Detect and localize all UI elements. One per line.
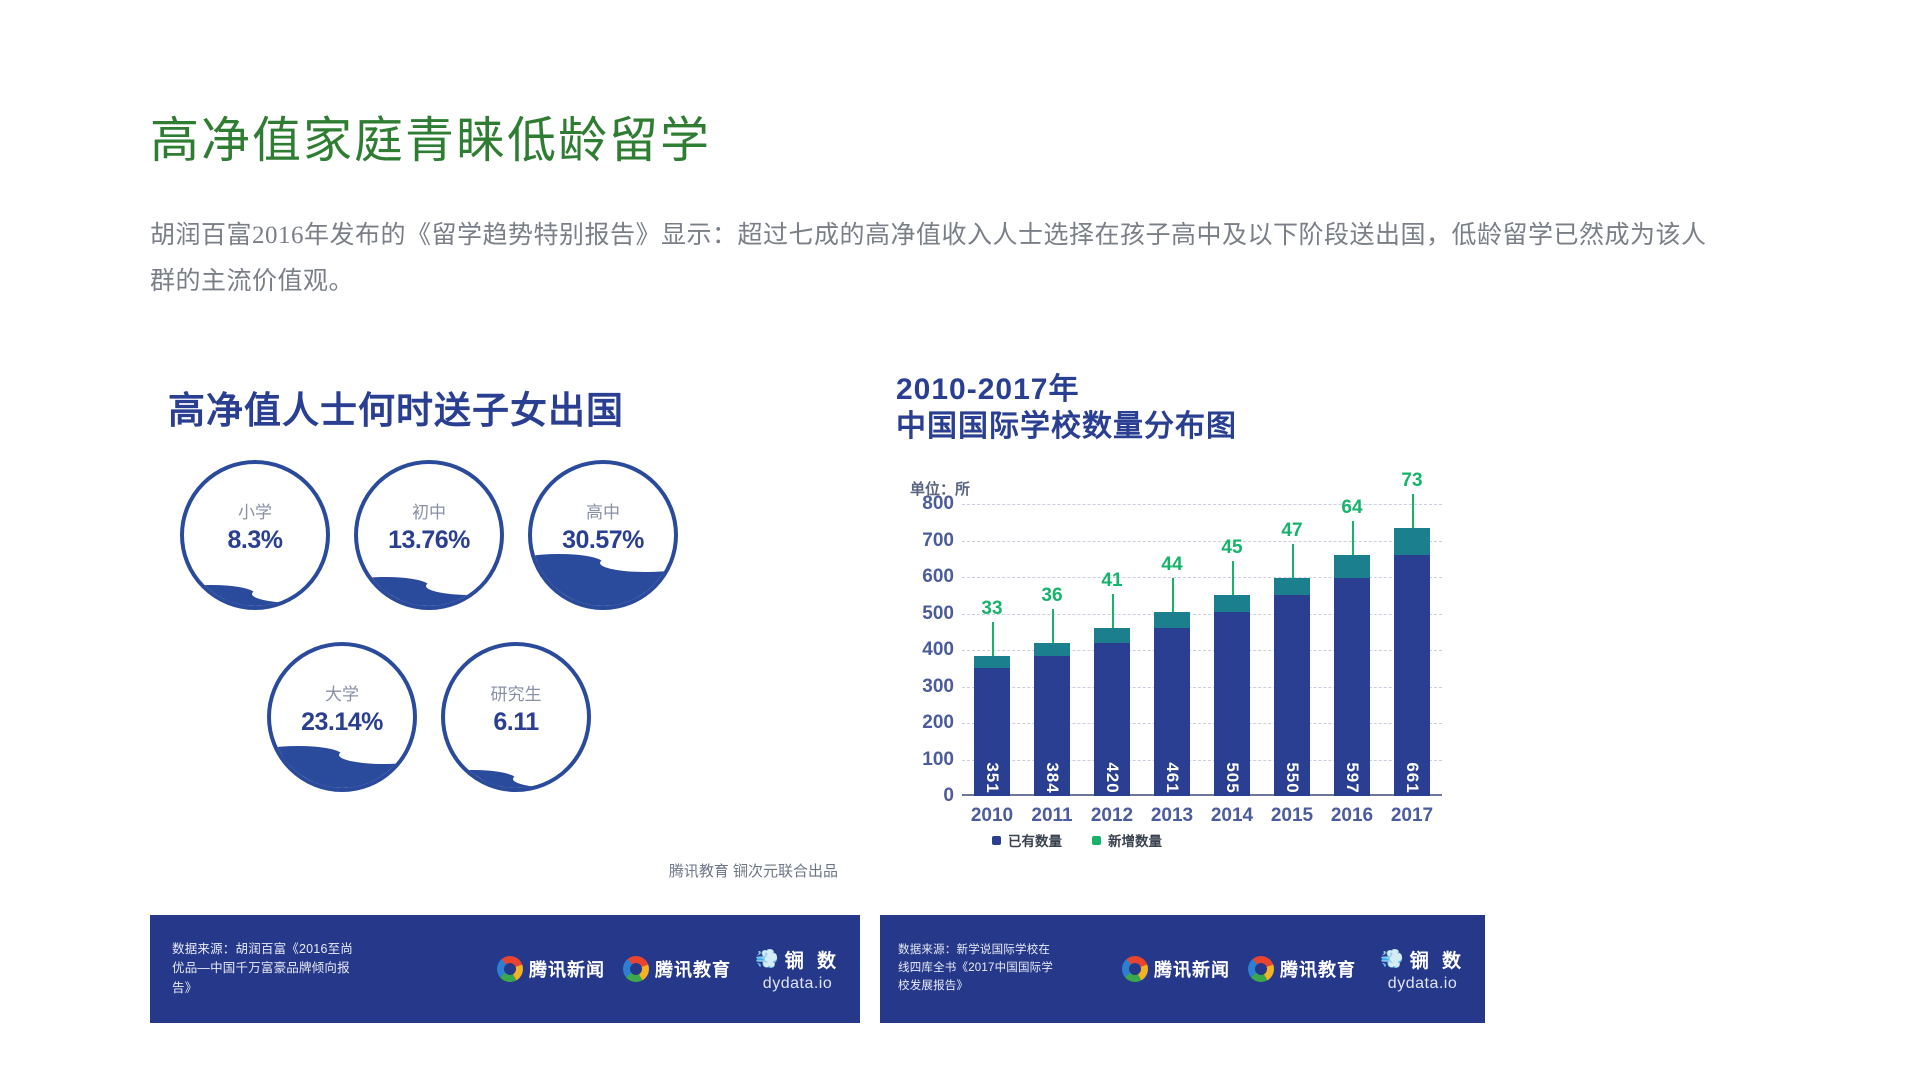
bar-segment-new bbox=[1214, 595, 1250, 611]
infographic-page: 高净值家庭青睐低龄留学 胡润百富2016年发布的《留学趋势特别报告》显示：超过七… bbox=[0, 0, 1920, 1080]
legend-label-existing: 已有数量 bbox=[1008, 830, 1062, 850]
bar-value-label: 351 bbox=[982, 762, 1002, 793]
bar-segment-new bbox=[1334, 555, 1370, 578]
increment-leader-line bbox=[1352, 521, 1354, 555]
right-footer-logos: 腾讯新闻 腾讯教育 💨 锎 数 dydata.io bbox=[1122, 946, 1485, 993]
bar-column: 6612017 bbox=[1394, 528, 1430, 796]
bar-segment-existing: 384 bbox=[1034, 656, 1070, 796]
tencent-logo-icon bbox=[1248, 956, 1274, 982]
bar-segment-existing: 505 bbox=[1214, 612, 1250, 796]
tencent-edu-logo: 腾讯教育 bbox=[623, 956, 731, 982]
increment-value-label: 44 bbox=[1161, 554, 1182, 576]
water-circle-graduate: 研究生 6.11 bbox=[441, 642, 591, 792]
bar-chart: 单位：所 01002003004005006007008003512010333… bbox=[888, 478, 1483, 918]
x-axis-tick: 2013 bbox=[1151, 805, 1193, 827]
water-circle-primary: 小学 8.3% bbox=[180, 460, 330, 610]
water-fill bbox=[267, 755, 417, 788]
circle-value: 23.14% bbox=[271, 708, 413, 737]
circle-value: 6.11 bbox=[445, 708, 587, 737]
y-axis-tick: 700 bbox=[922, 530, 954, 552]
increment-value-label: 41 bbox=[1101, 570, 1122, 592]
tencent-edu-label: 腾讯教育 bbox=[655, 956, 731, 982]
legend-swatch-new bbox=[1092, 836, 1101, 845]
bar-segment-existing: 597 bbox=[1334, 578, 1370, 796]
left-panel-title: 高净值人士何时送子女出国 bbox=[168, 380, 624, 434]
bar-segment-new bbox=[1394, 528, 1430, 555]
tencent-edu-label: 腾讯教育 bbox=[1280, 956, 1356, 982]
dydata-logo: 💨 锎 数 dydata.io bbox=[755, 946, 840, 993]
water-fill bbox=[441, 779, 591, 788]
circle-value: 8.3% bbox=[184, 526, 326, 555]
circle-label: 高中 bbox=[532, 498, 674, 523]
left-panel-credit: 腾讯教育 锎次元联合出品 bbox=[669, 860, 838, 881]
grid-line bbox=[962, 614, 1442, 615]
bar-column: 5502015 bbox=[1274, 578, 1310, 796]
right-panel-title-line2: 中国国际学校数量分布图 bbox=[896, 409, 1237, 446]
tencent-logo-icon bbox=[623, 956, 649, 982]
circle-label: 初中 bbox=[358, 498, 500, 523]
right-panel-title: 2010-2017年 中国国际学校数量分布图 bbox=[896, 372, 1237, 445]
x-axis-tick: 2016 bbox=[1331, 805, 1373, 827]
dydata-url: dydata.io bbox=[1388, 975, 1457, 993]
circle-label: 小学 bbox=[184, 498, 326, 523]
water-fill bbox=[354, 586, 504, 606]
bar-segment-new bbox=[1094, 628, 1130, 643]
water-circle-high-school: 高中 30.57% bbox=[528, 460, 678, 610]
increment-leader-line bbox=[1232, 561, 1234, 595]
right-footer-source: 数据来源：新学说国际学校在线四库全书《2017中国国际学校发展报告》 bbox=[880, 942, 1055, 995]
increment-leader-line bbox=[1292, 544, 1294, 578]
x-axis-tick: 2010 bbox=[971, 805, 1013, 827]
tencent-edu-logo: 腾讯教育 bbox=[1248, 956, 1356, 982]
bar-segment-new bbox=[1154, 612, 1190, 628]
increment-leader-line bbox=[992, 622, 994, 656]
tencent-news-label: 腾讯新闻 bbox=[1154, 956, 1230, 982]
left-footer-band: 数据来源：胡润百富《2016至尚优品—中国千万富豪品牌倾向报告》 腾讯新闻 腾讯… bbox=[150, 915, 860, 1023]
tencent-logo-icon bbox=[1122, 956, 1148, 982]
bar-value-label: 597 bbox=[1342, 762, 1362, 793]
y-axis-tick: 200 bbox=[922, 712, 954, 734]
dydata-logo-top: 💨 锎 数 bbox=[1380, 946, 1465, 973]
bar-column: 5052014 bbox=[1214, 595, 1250, 796]
water-fill bbox=[180, 594, 330, 606]
dydata-logo-top: 💨 锎 数 bbox=[755, 946, 840, 973]
water-circle-university: 大学 23.14% bbox=[267, 642, 417, 792]
bar-segment-existing: 420 bbox=[1094, 643, 1130, 796]
y-axis-tick: 600 bbox=[922, 566, 954, 588]
dydata-flame-icon: 💨 bbox=[755, 950, 779, 969]
left-footer-logos: 腾讯新闻 腾讯教育 💨 锎 数 dydata.io bbox=[497, 946, 860, 993]
grid-line bbox=[962, 577, 1442, 578]
increment-value-label: 33 bbox=[981, 598, 1002, 620]
y-axis-tick: 500 bbox=[922, 603, 954, 625]
dydata-url: dydata.io bbox=[763, 975, 832, 993]
bar-value-label: 661 bbox=[1402, 762, 1422, 793]
x-axis-tick: 2012 bbox=[1091, 805, 1133, 827]
bar-value-label: 384 bbox=[1042, 762, 1062, 793]
increment-value-label: 73 bbox=[1401, 470, 1422, 492]
increment-value-label: 47 bbox=[1281, 520, 1302, 542]
x-axis-tick: 2011 bbox=[1031, 805, 1072, 827]
bar-segment-new bbox=[1034, 643, 1070, 656]
bar-column: 4202012 bbox=[1094, 628, 1130, 796]
dydata-flame-icon: 💨 bbox=[1380, 950, 1404, 969]
water-circle-group: 小学 8.3% 初中 13.76% 高中 30.57% 大学 23.14% bbox=[150, 450, 860, 870]
bar-column: 3512010 bbox=[974, 656, 1010, 796]
y-axis-tick: 100 bbox=[922, 749, 954, 771]
right-footer-band: 数据来源：新学说国际学校在线四库全书《2017中国国际学校发展报告》 腾讯新闻 … bbox=[880, 915, 1485, 1023]
right-panel-title-line1: 2010-2017年 bbox=[896, 372, 1237, 409]
tencent-news-logo: 腾讯新闻 bbox=[497, 956, 605, 982]
bar-segment-existing: 351 bbox=[974, 668, 1010, 796]
circle-value: 13.76% bbox=[358, 526, 500, 555]
legend-item-new: 新增数量 bbox=[1092, 830, 1162, 850]
circle-value: 30.57% bbox=[532, 526, 674, 555]
y-axis-tick: 0 bbox=[943, 785, 954, 807]
tencent-news-label: 腾讯新闻 bbox=[529, 956, 605, 982]
left-footer-source: 数据来源：胡润百富《2016至尚优品—中国千万富豪品牌倾向报告》 bbox=[150, 940, 365, 998]
bar-segment-existing: 461 bbox=[1154, 628, 1190, 796]
chart-legend: 已有数量 新增数量 bbox=[992, 830, 1162, 850]
y-axis-tick: 300 bbox=[922, 676, 954, 698]
chart-plot-area: 0100200300400500600700800351201033384201… bbox=[962, 504, 1442, 796]
legend-swatch-existing bbox=[992, 836, 1001, 845]
tencent-news-logo: 腾讯新闻 bbox=[1122, 956, 1230, 982]
increment-value-label: 36 bbox=[1041, 585, 1062, 607]
dydata-logo: 💨 锎 数 dydata.io bbox=[1380, 946, 1465, 993]
legend-item-existing: 已有数量 bbox=[992, 830, 1062, 850]
increment-value-label: 64 bbox=[1341, 497, 1362, 519]
y-axis-tick: 400 bbox=[922, 639, 954, 661]
increment-leader-line bbox=[1052, 609, 1054, 643]
increment-leader-line bbox=[1112, 594, 1114, 628]
bar-column: 5972016 bbox=[1334, 555, 1370, 796]
circle-label: 大学 bbox=[271, 680, 413, 705]
circle-label: 研究生 bbox=[445, 680, 587, 705]
tencent-logo-icon bbox=[497, 956, 523, 982]
y-axis-tick: 800 bbox=[922, 493, 954, 515]
bar-column: 3842011 bbox=[1034, 643, 1070, 796]
grid-line bbox=[962, 504, 1442, 505]
increment-value-label: 45 bbox=[1221, 537, 1242, 559]
increment-leader-line bbox=[1412, 494, 1414, 528]
grid-line bbox=[962, 541, 1442, 542]
bar-value-label: 550 bbox=[1282, 762, 1302, 793]
water-fill bbox=[528, 563, 678, 606]
bar-segment-existing: 550 bbox=[1274, 595, 1310, 796]
bar-value-label: 505 bbox=[1222, 762, 1242, 793]
bar-segment-new bbox=[974, 656, 1010, 668]
bar-segment-existing: 661 bbox=[1394, 555, 1430, 796]
water-circle-middle-school: 初中 13.76% bbox=[354, 460, 504, 610]
bar-value-label: 461 bbox=[1162, 762, 1182, 793]
page-lede: 胡润百富2016年发布的《留学趋势特别报告》显示：超过七成的高净值收入人士选择在… bbox=[150, 213, 1710, 306]
page-title: 高净值家庭青睐低龄留学 bbox=[150, 116, 711, 165]
dydata-label: 锎 数 bbox=[1410, 946, 1465, 973]
increment-leader-line bbox=[1172, 578, 1174, 612]
dydata-label: 锎 数 bbox=[785, 946, 840, 973]
x-axis-tick: 2014 bbox=[1211, 805, 1253, 827]
bar-value-label: 420 bbox=[1102, 762, 1122, 793]
x-axis-tick: 2015 bbox=[1271, 805, 1313, 827]
bar-column: 4612013 bbox=[1154, 612, 1190, 796]
bar-segment-new bbox=[1274, 578, 1310, 595]
x-axis-tick: 2017 bbox=[1391, 805, 1433, 827]
legend-label-new: 新增数量 bbox=[1108, 830, 1162, 850]
